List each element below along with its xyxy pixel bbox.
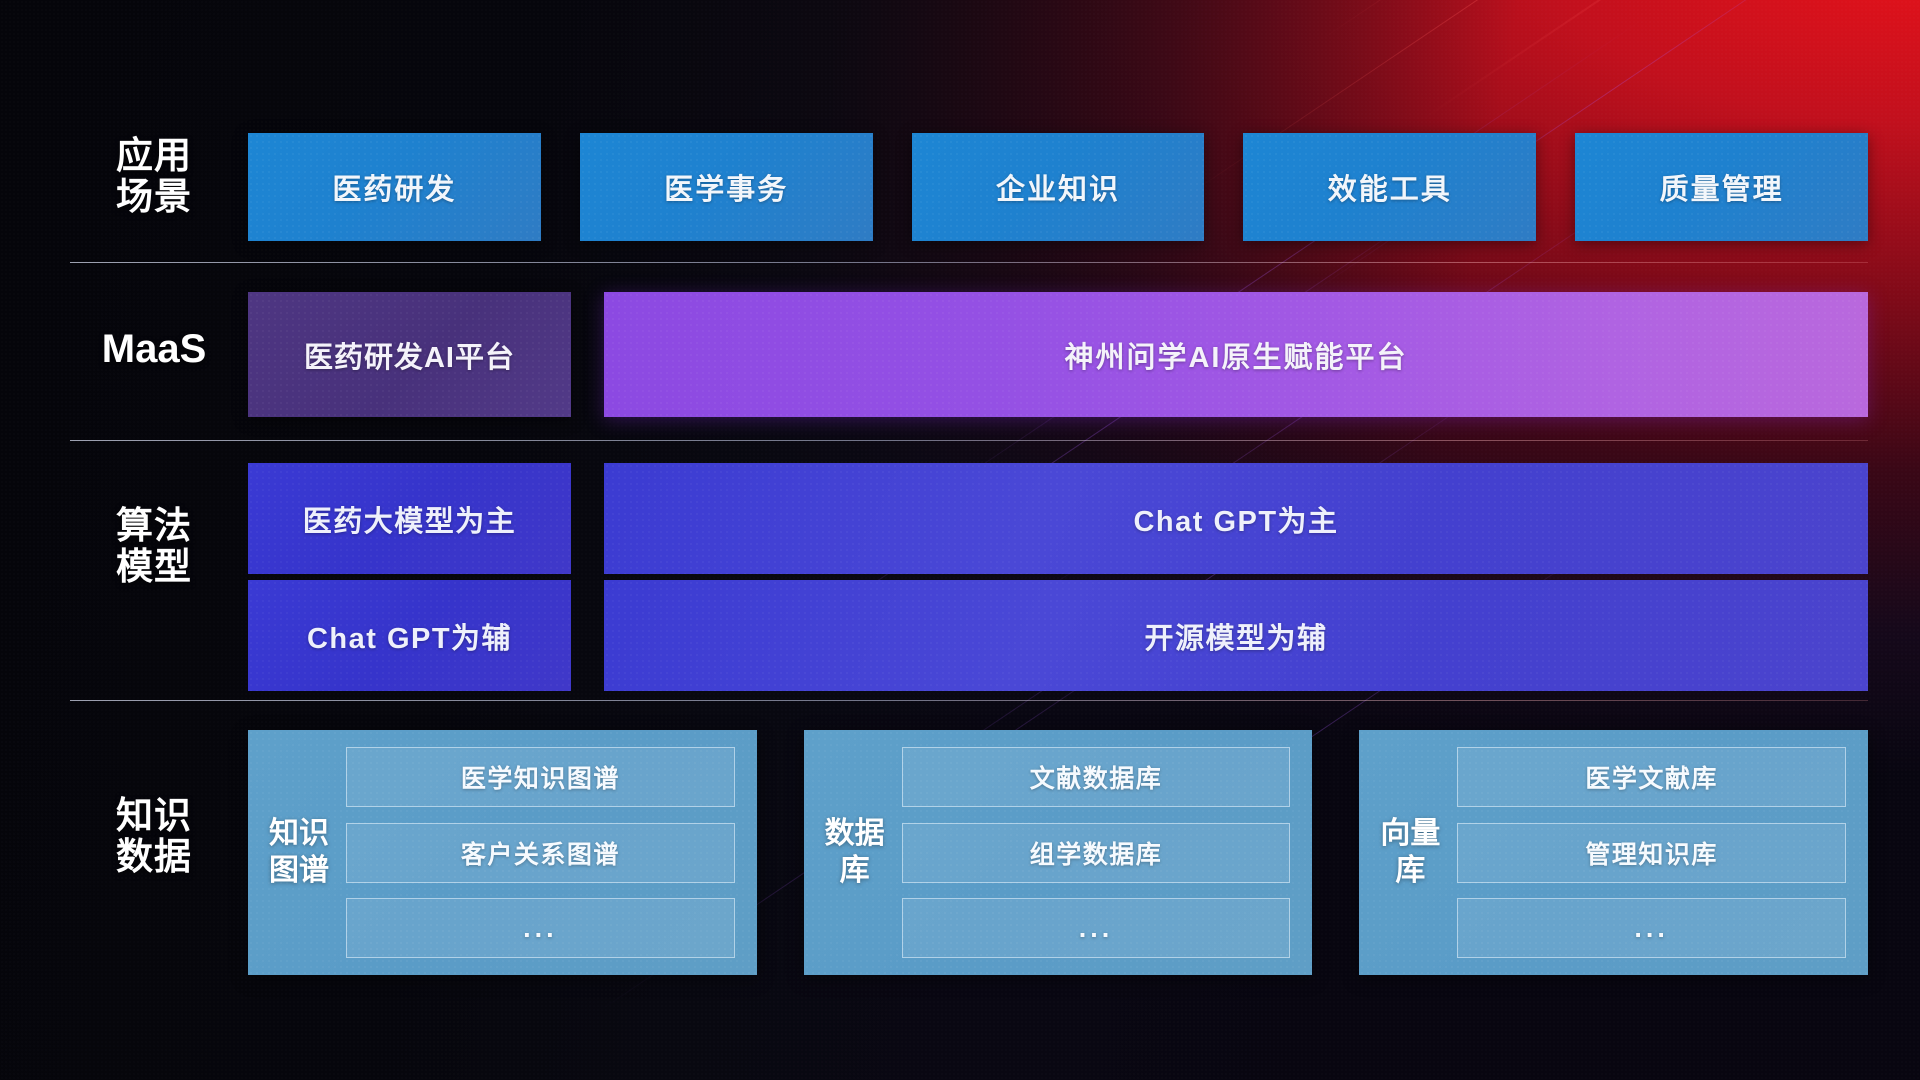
app-box-label: 效能工具 [1328,166,1452,208]
app-box-label: 医学事务 [664,166,788,208]
algo-box-pharma-llm-primary[interactable]: 医药大模型为主 [248,463,571,574]
knowledge-item-more[interactable]: ... [1457,898,1846,958]
knowledge-card-items: 医学知识图谱 客户关系图谱 ... [346,747,735,958]
app-box-medicine-rd[interactable]: 医药研发 [248,133,541,241]
knowledge-card-database[interactable]: 数据库 文献数据库 组学数据库 ... [804,730,1313,975]
knowledge-card-items: 医学文献库 管理知识库 ... [1457,747,1846,958]
knowledge-item-more[interactable]: ... [902,898,1291,958]
row-label-algorithm: 算法 模型 [88,505,220,588]
divider-maas-algorithm [70,440,1868,441]
app-box-efficiency-tools[interactable]: 效能工具 [1243,133,1536,241]
knowledge-card-knowledge-graph[interactable]: 知识图谱 医学知识图谱 客户关系图谱 ... [248,730,757,975]
knowledge-card-title: 向量库 [1377,747,1443,958]
algorithm-row-secondary: Chat GPT为辅 开源模型为辅 [248,580,1868,691]
maas-box-pharma-ai-platform[interactable]: 医药研发AI平台 [248,292,571,417]
maas-box-shenzhou-wenxue-platform[interactable]: 神州问学AI原生赋能平台 [604,292,1868,417]
row-label-knowledge: 知识 数据 [88,795,220,878]
app-box-label: 医药研发 [332,166,456,208]
algo-box-label: Chat GPT为主 [1133,498,1338,540]
knowledge-item[interactable]: 医学文献库 [1457,747,1846,807]
knowledge-item[interactable]: 管理知识库 [1457,823,1846,883]
algo-box-label: Chat GPT为辅 [307,615,512,657]
knowledge-item[interactable]: 医学知识图谱 [346,747,735,807]
algo-box-chatgpt-secondary[interactable]: Chat GPT为辅 [248,580,571,691]
architecture-diagram: 应用 场景 MaaS 算法 模型 知识 数据 医药研发 医学事务 企业知识 效能… [0,0,1920,1080]
divider-algorithm-knowledge [70,700,1868,701]
divider-application-maas [70,262,1868,263]
row-label-maas: MaaS [88,327,220,372]
app-box-label: 质量管理 [1660,166,1784,208]
maas-row: 医药研发AI平台 神州问学AI原生赋能平台 [248,292,1868,417]
maas-box-label: 神州问学AI原生赋能平台 [1064,334,1407,376]
algo-box-label: 医药大模型为主 [303,498,517,540]
knowledge-card-title: 数据库 [822,747,888,958]
algo-box-label: 开源模型为辅 [1144,615,1327,657]
knowledge-card-items: 文献数据库 组学数据库 ... [902,747,1291,958]
knowledge-item[interactable]: 客户关系图谱 [346,823,735,883]
knowledge-card-title: 知识图谱 [266,747,332,958]
application-scenario-row: 医药研发 医学事务 企业知识 效能工具 质量管理 [248,133,1868,241]
knowledge-card-vector-store[interactable]: 向量库 医学文献库 管理知识库 ... [1359,730,1868,975]
app-box-label: 企业知识 [996,166,1120,208]
algo-box-opensource-secondary[interactable]: 开源模型为辅 [604,580,1868,691]
algo-box-chatgpt-primary[interactable]: Chat GPT为主 [604,463,1868,574]
app-box-enterprise-knowledge[interactable]: 企业知识 [912,133,1205,241]
knowledge-item-more[interactable]: ... [346,898,735,958]
knowledge-item[interactable]: 文献数据库 [902,747,1291,807]
row-label-application: 应用 场景 [88,135,220,218]
knowledge-data-row: 知识图谱 医学知识图谱 客户关系图谱 ... 数据库 文献数据库 组学数据库 .… [248,730,1868,975]
algorithm-model-row: 医药大模型为主 Chat GPT为主 Chat GPT为辅 开源模型为辅 [248,463,1868,691]
app-box-medical-affairs[interactable]: 医学事务 [580,133,873,241]
algorithm-row-primary: 医药大模型为主 Chat GPT为主 [248,463,1868,574]
knowledge-item[interactable]: 组学数据库 [902,823,1291,883]
app-box-quality-management[interactable]: 质量管理 [1575,133,1868,241]
maas-box-label: 医药研发AI平台 [304,334,515,376]
